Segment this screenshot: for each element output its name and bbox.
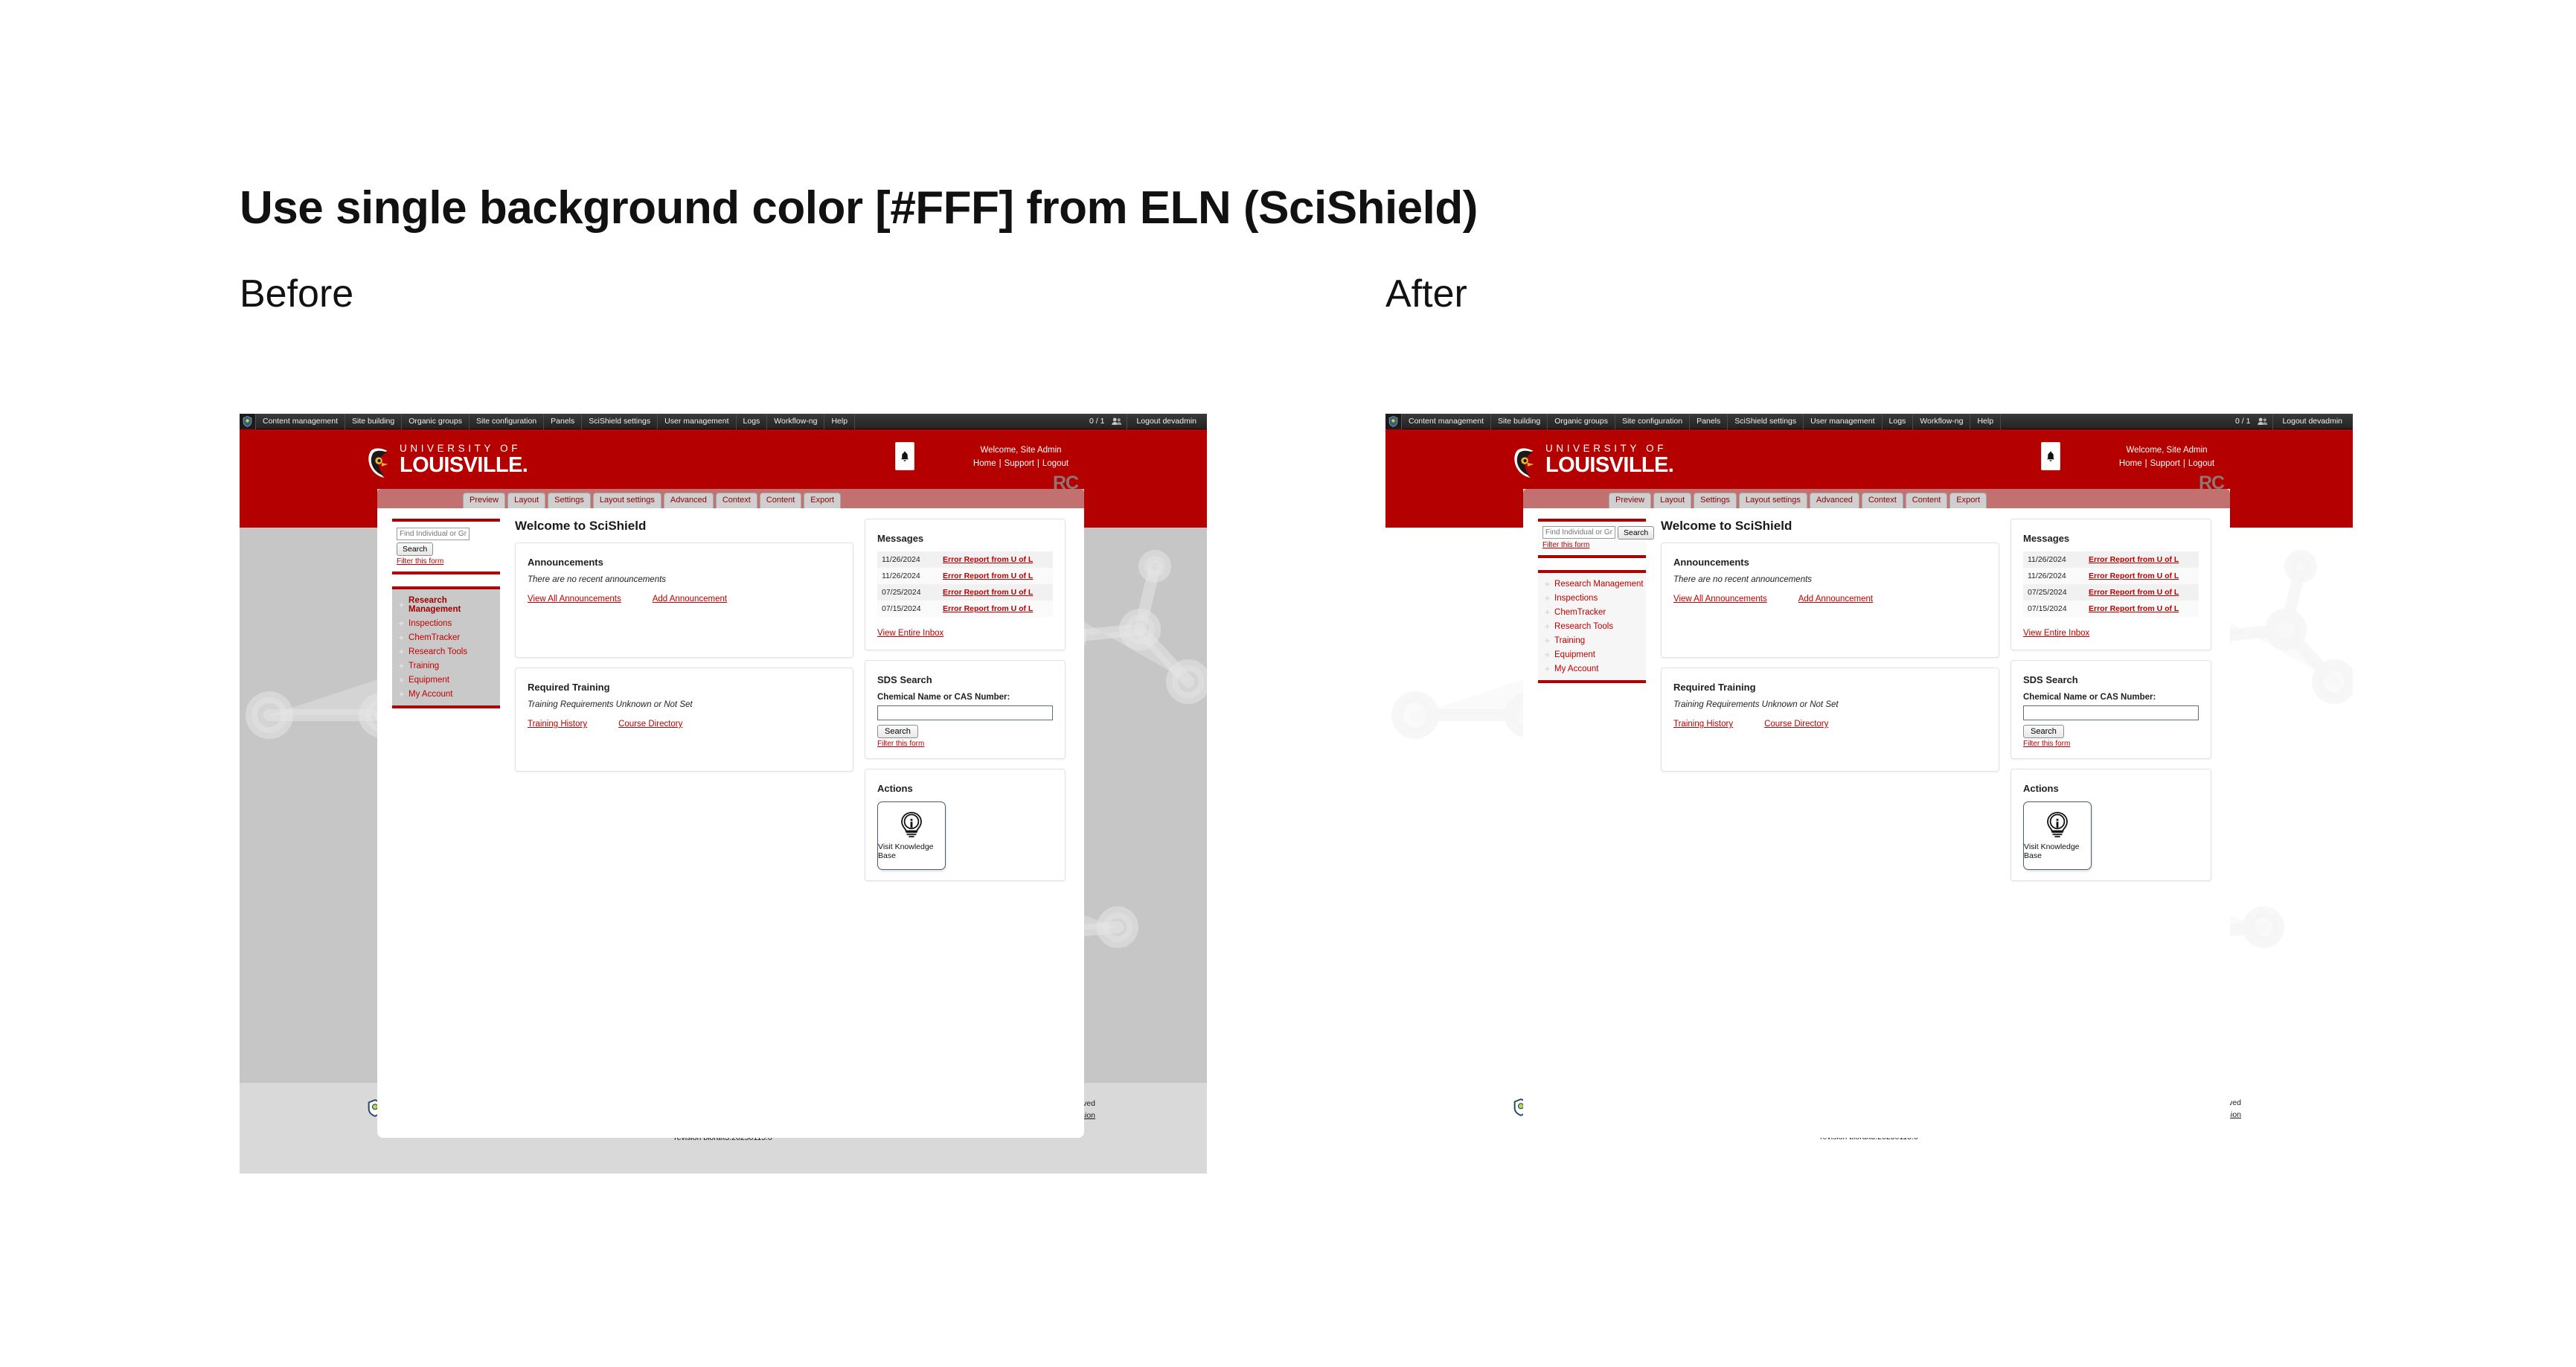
plus-icon: +	[1545, 623, 1550, 630]
panels-tab-strip[interactable]: Preview Layout Settings Layout settings …	[1523, 489, 2230, 508]
message-subject-link[interactable]: Error Report from U of L	[2089, 588, 2179, 597]
view-entire-inbox-link[interactable]: View Entire Inbox	[877, 629, 943, 638]
sidebar-filter-this-form-link[interactable]: Filter this form	[397, 557, 496, 566]
after-label: After	[1385, 272, 1467, 316]
rc-watermark: RC	[1053, 473, 1078, 494]
messages-card: Messages 11/26/2024 Error Report from U …	[2011, 519, 2211, 650]
sidebar-search-inner: Search Filter this form	[1538, 522, 1646, 555]
tab-layout-settings[interactable]: Layout settings	[1739, 493, 1807, 508]
announcements-links: View All Announcements Add Announcement	[528, 595, 841, 604]
view-all-announcements-link[interactable]: View All Announcements	[528, 595, 621, 604]
notification-bell-button[interactable]	[2041, 442, 2060, 470]
sds-search-button[interactable]: Search	[877, 725, 918, 738]
required-training-status: Training Requirements Unknown or Not Set	[528, 700, 841, 709]
actions-card: Actions Visit Knowledge	[2011, 769, 2211, 881]
header-red-left	[240, 489, 377, 528]
sidebar-search-button[interactable]: Search	[397, 542, 433, 556]
university-wordmark: UNIVERSITY OF LOUISVILLE.	[400, 443, 528, 476]
training-history-link[interactable]: Training History	[1673, 720, 1733, 729]
plus-icon: +	[1545, 637, 1550, 644]
admin-item-site-building[interactable]: Site building	[345, 414, 402, 429]
announcements-links: View All Announcements Add Announcement	[1673, 595, 1987, 604]
sidebar-search-row: Search	[397, 526, 496, 556]
view-all-announcements-link[interactable]: View All Announcements	[1673, 595, 1767, 604]
site-header: UNIVERSITY OF LOUISVILLE. Welcome, Site …	[240, 429, 1207, 489]
message-subject-link[interactable]: Error Report from U of L	[943, 572, 1033, 580]
sidebar-menu-inner: + Research Management + Inspections + Ch…	[392, 589, 500, 705]
message-date: 07/25/2024	[2023, 584, 2084, 601]
header-red-right	[2230, 489, 2353, 528]
required-training-status: Training Requirements Unknown or Not Set	[1673, 700, 1987, 709]
plus-icon: +	[1545, 595, 1550, 602]
before-label: Before	[240, 272, 353, 316]
message-subject-link[interactable]: Error Report from U of L	[943, 604, 1033, 613]
sds-search-input[interactable]	[877, 705, 1053, 720]
sidebar-search-row: Search	[1542, 526, 1641, 540]
messages-heading: Messages	[2023, 533, 2199, 544]
columns: Search Filter this form + Research Manag…	[377, 508, 1084, 1138]
actions-card: Actions Visit Knowledge	[865, 769, 1066, 881]
columns: Search Filter this form + Research Manag…	[1523, 508, 2230, 1138]
message-date: 11/26/2024	[877, 568, 938, 584]
admin-item-site-building[interactable]: Site building	[1491, 414, 1548, 429]
welcome-text: Welcome, Site Admin	[961, 444, 1080, 457]
announcements-card: Announcements There are no recent announ…	[515, 542, 853, 658]
panels-tab-strip[interactable]: Preview Layout Settings Layout settings …	[377, 489, 1084, 508]
table-row[interactable]: 07/25/2024 Error Report from U of L	[2023, 584, 2199, 601]
message-subject-link[interactable]: Error Report from U of L	[2089, 555, 2179, 564]
admin-item-panels[interactable]: Panels	[544, 414, 582, 429]
message-date: 07/15/2024	[2023, 601, 2084, 617]
sidebar-item-inspections[interactable]: + Inspections	[1538, 591, 1646, 605]
shield-glyph	[1388, 416, 1398, 427]
tab-export[interactable]: Export	[804, 493, 841, 508]
header-link-logout[interactable]: Logout	[1042, 459, 1068, 468]
sidebar-search-panel: Search Filter this form	[1538, 519, 1646, 558]
admin-item-panels[interactable]: Panels	[1690, 414, 1728, 429]
plus-icon: +	[399, 648, 404, 656]
header-link-sep-2: |	[1034, 459, 1042, 468]
sds-field-label: Chemical Name or CAS Number:	[877, 693, 1053, 702]
main-column: Welcome to SciShield Announcements There…	[1661, 519, 1999, 781]
sidebar-item-label: Research Tools	[408, 647, 467, 656]
tab-preview[interactable]: Preview	[463, 493, 505, 508]
online-user-count: 0 / 1	[1082, 417, 1107, 426]
sidebar-item-my-account[interactable]: + My Account	[392, 687, 500, 701]
announcements-heading: Announcements	[528, 557, 841, 568]
message-date: 07/15/2024	[877, 601, 938, 617]
admin-item-scishield-settings[interactable]: SciShield settings	[582, 414, 658, 429]
tab-advanced[interactable]: Advanced	[1810, 493, 1859, 508]
bell-icon	[900, 451, 909, 462]
university-logo[interactable]: UNIVERSITY OF LOUISVILLE.	[1512, 443, 1673, 480]
tab-export[interactable]: Export	[1949, 493, 1987, 508]
users-icon	[2258, 417, 2268, 426]
header-links: Home|Support|Logout	[2107, 457, 2226, 470]
actions-heading: Actions	[877, 783, 1053, 794]
message-subject-cell: Error Report from U of L	[938, 551, 1053, 568]
messages-table: 11/26/2024 Error Report from U of L 11/2…	[2023, 551, 2199, 617]
university-bottom-line: LOUISVILLE.	[400, 454, 528, 476]
sidebar-item-label: Research Tools	[1554, 622, 1613, 631]
page-title: Use single background color [#FFF] from …	[240, 182, 1478, 234]
header-link-home[interactable]: Home	[2119, 459, 2142, 468]
sidebar-item-inspections[interactable]: + Inspections	[392, 616, 500, 630]
tab-settings[interactable]: Settings	[548, 493, 591, 508]
university-top-line: UNIVERSITY OF	[1545, 443, 1673, 454]
site-header: UNIVERSITY OF LOUISVILLE. Welcome, Site …	[1385, 429, 2353, 489]
lightbulb-info-icon	[2045, 811, 2070, 839]
table-row[interactable]: 11/26/2024 Error Report from U of L	[877, 568, 1053, 584]
sidebar-item-label: ChemTracker	[408, 633, 460, 642]
table-row[interactable]: 11/26/2024 Error Report from U of L	[2023, 568, 2199, 584]
table-row[interactable]: 11/26/2024 Error Report from U of L	[2023, 551, 2199, 568]
admin-status-group: 0 / 1 Logout devadmin	[2228, 414, 2353, 429]
sds-filter-this-form-link[interactable]: Filter this form	[877, 740, 1053, 748]
course-directory-link[interactable]: Course Directory	[1764, 720, 1828, 729]
plus-icon: +	[399, 676, 404, 684]
course-directory-link[interactable]: Course Directory	[618, 720, 682, 729]
plus-icon: +	[399, 620, 404, 627]
tab-layout-settings[interactable]: Layout settings	[593, 493, 661, 508]
right-column: Messages 11/26/2024 Error Report from U …	[2011, 519, 2211, 891]
message-subject-cell: Error Report from U of L	[2084, 584, 2199, 601]
admin-toolbar[interactable]: Content management Site building Organic…	[1385, 414, 2353, 429]
required-training-links: Training History Course Directory	[528, 720, 841, 729]
plus-icon: +	[1545, 651, 1550, 659]
required-training-card: Required Training Training Requirements …	[515, 668, 853, 772]
header-links: Home|Support|Logout	[961, 457, 1080, 470]
sidebar-search-panel: Search Filter this form	[392, 519, 500, 574]
sidebar-item-label: Inspections	[408, 619, 452, 628]
content-sheet: Search Filter this form + Research Manag…	[1523, 508, 2230, 1138]
sidebar-item-label: Research Management	[1554, 580, 1644, 589]
message-subject-link[interactable]: Error Report from U of L	[943, 588, 1033, 597]
tab-context[interactable]: Context	[716, 493, 757, 508]
message-subject-link[interactable]: Error Report from U of L	[2089, 572, 2179, 580]
admin-item-help[interactable]: Help	[1970, 414, 2001, 429]
visit-knowledge-base-label: Visit Knowledge Base	[2024, 842, 2091, 860]
tab-content[interactable]: Content	[760, 493, 802, 508]
sidebar-item-label: ChemTracker	[1554, 608, 1606, 617]
plus-icon: +	[1545, 609, 1550, 616]
tab-layout[interactable]: Layout	[507, 493, 545, 508]
admin-item-workflow-ng[interactable]: Workflow-ng	[1913, 414, 1970, 429]
header-link-home[interactable]: Home	[973, 459, 996, 468]
table-row[interactable]: 07/15/2024 Error Report from U of L	[2023, 601, 2199, 617]
plus-icon: +	[1545, 580, 1550, 588]
sidebar: Search Filter this form + Research Manag…	[392, 519, 500, 720]
actions-heading: Actions	[2023, 783, 2199, 794]
sidebar-item-my-account[interactable]: + My Account	[1538, 662, 1646, 676]
message-subject-cell: Error Report from U of L	[2084, 568, 2199, 584]
required-training-heading: Required Training	[1673, 682, 1987, 693]
bell-icon	[2046, 451, 2055, 462]
required-training-heading: Required Training	[528, 682, 841, 693]
messages-card: Messages 11/26/2024 Error Report from U …	[865, 519, 1066, 650]
rc-watermark: RC	[2199, 473, 2224, 494]
find-individual-input[interactable]	[397, 528, 470, 540]
sidebar-item-training[interactable]: + Training	[1538, 633, 1646, 647]
sidebar-item-research-management[interactable]: + Research Management	[1538, 577, 1646, 591]
visit-knowledge-base-label: Visit Knowledge Base	[878, 842, 945, 860]
announcements-empty-text: There are no recent announcements	[528, 575, 841, 584]
sidebar-item-chemtracker[interactable]: + ChemTracker	[392, 630, 500, 644]
sidebar-item-research-management[interactable]: + Research Management	[392, 593, 500, 616]
sds-search-heading: SDS Search	[877, 674, 1053, 685]
sidebar-item-label: Research Management	[408, 596, 500, 614]
users-glyph	[2258, 417, 2268, 426]
admin-logout-link[interactable]: Logout devadmin	[2272, 414, 2347, 429]
admin-item-help[interactable]: Help	[824, 414, 855, 429]
welcome-block: Welcome, Site Admin Home|Support|Logout	[961, 444, 1080, 470]
header-link-sep-2: |	[2180, 459, 2188, 468]
university-top-line: UNIVERSITY OF	[400, 443, 528, 454]
admin-item-site-configuration[interactable]: Site configuration	[1615, 414, 1690, 429]
sidebar-search-inner: Search Filter this form	[392, 522, 500, 572]
main-column: Welcome to SciShield Announcements There…	[515, 519, 853, 781]
welcome-text: Welcome, Site Admin	[2107, 444, 2226, 457]
admin-item-logs[interactable]: Logs	[737, 414, 768, 429]
tab-content[interactable]: Content	[1906, 493, 1948, 508]
tab-context[interactable]: Context	[1862, 493, 1903, 508]
plus-icon: +	[399, 601, 404, 609]
sidebar-filter-this-form-link[interactable]: Filter this form	[1542, 541, 1641, 549]
admin-item-organic-groups[interactable]: Organic groups	[402, 414, 470, 429]
screenshot-after: Content management Site building Organic…	[1385, 414, 2353, 1174]
messages-heading: Messages	[877, 533, 1053, 544]
message-date: 11/26/2024	[2023, 568, 2084, 584]
tab-layout[interactable]: Layout	[1653, 493, 1691, 508]
sidebar-item-chemtracker[interactable]: + ChemTracker	[1538, 605, 1646, 619]
sidebar-item-training[interactable]: + Training	[392, 659, 500, 673]
tab-preview[interactable]: Preview	[1609, 493, 1651, 508]
sidebar-item-label: My Account	[1554, 665, 1598, 673]
message-subject-cell: Error Report from U of L	[938, 601, 1053, 617]
sidebar-item-equipment[interactable]: + Equipment	[392, 673, 500, 687]
message-subject-link[interactable]: Error Report from U of L	[943, 555, 1033, 564]
message-date: 07/25/2024	[877, 584, 938, 601]
tab-advanced[interactable]: Advanced	[664, 493, 714, 508]
visit-knowledge-base-tile[interactable]: Visit Knowledge Base	[2023, 801, 2092, 870]
add-announcement-link[interactable]: Add Announcement	[1798, 595, 1873, 604]
admin-item-site-configuration[interactable]: Site configuration	[470, 414, 544, 429]
table-row[interactable]: 11/26/2024 Error Report from U of L	[877, 551, 1053, 568]
message-subject-cell: Error Report from U of L	[938, 568, 1053, 584]
sds-search-heading: SDS Search	[2023, 674, 2199, 685]
cardinal-bird-icon	[366, 446, 394, 480]
message-subject-cell: Error Report from U of L	[2084, 601, 2199, 617]
header-link-support[interactable]: Support	[1005, 459, 1034, 468]
plus-icon: +	[1545, 665, 1550, 673]
admin-item-scishield-settings[interactable]: SciShield settings	[1728, 414, 1804, 429]
header-link-logout[interactable]: Logout	[2188, 459, 2214, 468]
sds-search-button[interactable]: Search	[2023, 725, 2064, 738]
users-glyph	[1112, 417, 1122, 426]
shield-glyph	[243, 416, 252, 427]
plus-icon: +	[399, 634, 404, 641]
sidebar-search-button[interactable]: Search	[1618, 526, 1654, 540]
right-column: Messages 11/26/2024 Error Report from U …	[865, 519, 1066, 891]
announcements-heading: Announcements	[1673, 557, 1987, 568]
users-icon	[1112, 417, 1122, 426]
university-wordmark: UNIVERSITY OF LOUISVILLE.	[1545, 443, 1673, 476]
sds-field-label: Chemical Name or CAS Number:	[2023, 693, 2199, 702]
university-logo[interactable]: UNIVERSITY OF LOUISVILLE.	[366, 443, 528, 480]
sidebar-item-label: Training	[1554, 636, 1585, 645]
sidebar-item-research-tools[interactable]: + Research Tools	[1538, 619, 1646, 633]
admin-item-workflow-ng[interactable]: Workflow-ng	[767, 414, 824, 429]
header-red-right	[1084, 489, 1207, 528]
visit-knowledge-base-tile[interactable]: Visit Knowledge Base	[877, 801, 946, 870]
sidebar-item-label: Equipment	[1554, 650, 1595, 659]
announcements-card: Announcements There are no recent announ…	[1661, 542, 1999, 658]
training-history-link[interactable]: Training History	[528, 720, 587, 729]
lightbulb-info-icon	[899, 811, 924, 839]
university-bottom-line: LOUISVILLE.	[1545, 454, 1673, 476]
message-date: 11/26/2024	[877, 551, 938, 568]
table-row[interactable]: 07/25/2024 Error Report from U of L	[877, 584, 1053, 601]
admin-status-group: 0 / 1 Logout devadmin	[1082, 414, 1207, 429]
header-link-support[interactable]: Support	[2150, 459, 2180, 468]
admin-item-logs[interactable]: Logs	[1883, 414, 1914, 429]
notification-bell-button[interactable]	[895, 442, 914, 470]
find-individual-input[interactable]	[1542, 526, 1615, 539]
message-subject-cell: Error Report from U of L	[2084, 551, 2199, 568]
sds-search-card: SDS Search Chemical Name or CAS Number: …	[865, 660, 1066, 759]
admin-item-user-management[interactable]: User management	[1804, 414, 1882, 429]
sds-search-input[interactable]	[2023, 705, 2199, 720]
scishield-shield-icon	[1385, 414, 1402, 429]
add-announcement-link[interactable]: Add Announcement	[653, 595, 727, 604]
header-link-sep-1: |	[2142, 459, 2150, 468]
sidebar-menu-panel: + Research Management + Inspections + Ch…	[392, 586, 500, 708]
scishield-shield-icon	[240, 414, 256, 429]
announcements-empty-text: There are no recent announcements	[1673, 575, 1987, 584]
sidebar-item-label: Inspections	[1554, 594, 1598, 603]
tab-settings[interactable]: Settings	[1694, 493, 1737, 508]
cardinal-bird-icon	[1512, 446, 1540, 480]
screenshot-before: Content management Site building Organic…	[240, 414, 1207, 1174]
message-subject-cell: Error Report from U of L	[938, 584, 1053, 601]
sidebar-menu-inner: + Research Management + Inspections + Ch…	[1538, 573, 1646, 680]
welcome-heading: Welcome to SciShield	[1661, 519, 1999, 534]
content-sheet: Search Filter this form + Research Manag…	[377, 508, 1084, 1138]
plus-icon: +	[399, 662, 404, 670]
online-user-count: 0 / 1	[2228, 417, 2253, 426]
admin-item-content-management[interactable]: Content management	[1402, 414, 1491, 429]
sds-filter-this-form-link[interactable]: Filter this form	[2023, 740, 2199, 748]
sidebar-item-research-tools[interactable]: + Research Tools	[392, 644, 500, 659]
sidebar-menu-panel: + Research Management + Inspections + Ch…	[1538, 570, 1646, 683]
sidebar-item-label: Equipment	[408, 676, 449, 685]
required-training-card: Required Training Training Requirements …	[1661, 668, 1999, 772]
sidebar-item-equipment[interactable]: + Equipment	[1538, 647, 1646, 662]
welcome-block: Welcome, Site Admin Home|Support|Logout	[2107, 444, 2226, 470]
message-subject-link[interactable]: Error Report from U of L	[2089, 604, 2179, 613]
admin-item-content-management[interactable]: Content management	[256, 414, 345, 429]
messages-table: 11/26/2024 Error Report from U of L 11/2…	[877, 551, 1053, 617]
view-entire-inbox-link[interactable]: View Entire Inbox	[2023, 629, 2089, 638]
plus-icon: +	[399, 691, 404, 698]
table-row[interactable]: 07/15/2024 Error Report from U of L	[877, 601, 1053, 617]
admin-item-organic-groups[interactable]: Organic groups	[1548, 414, 1615, 429]
header-link-sep-1: |	[996, 459, 1005, 468]
sidebar: Search Filter this form + Research Manag…	[1538, 519, 1646, 695]
admin-item-user-management[interactable]: User management	[658, 414, 736, 429]
required-training-links: Training History Course Directory	[1673, 720, 1987, 729]
sds-search-card: SDS Search Chemical Name or CAS Number: …	[2011, 660, 2211, 759]
admin-toolbar[interactable]: Content management Site building Organic…	[240, 414, 1207, 429]
sidebar-item-label: My Account	[408, 690, 452, 699]
sidebar-item-label: Training	[408, 662, 439, 670]
message-date: 11/26/2024	[2023, 551, 2084, 568]
header-red-left	[1385, 489, 1523, 528]
welcome-heading: Welcome to SciShield	[515, 519, 853, 534]
admin-logout-link[interactable]: Logout devadmin	[1127, 414, 1201, 429]
